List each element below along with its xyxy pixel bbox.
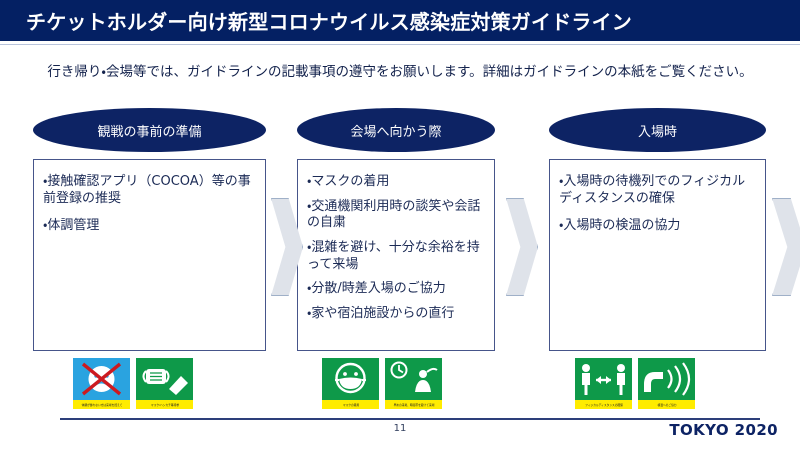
subtitle-text: 行き帰り・会場等では、ガイドラインの記載事項の遵守をお願いします。詳細はガイドラ… [0, 60, 800, 80]
column-panel-1: ・接触確認アプリ（COCOA）等の事前登録の推奨 ・体調管理 [33, 159, 266, 351]
mask-and-handkerchief-icon [136, 358, 193, 400]
physical-distance-icon [575, 358, 632, 400]
column-heading-label-1: 観戦の事前の準備 [97, 121, 201, 140]
pictogram-caption: 早めの来場、時間帯を避けて来場 [385, 400, 442, 409]
pictogram-caption: 検温へのご協力 [638, 400, 695, 409]
pictogram-caption: フィジカルディスタンスの確保 [575, 400, 632, 409]
bullet-item: ・入場時の検温の協力 [559, 218, 756, 235]
slide: チケットホルダー向け新型コロナウイルス感染症対策ガイドライン 行き帰り・会場等で… [0, 0, 800, 450]
bullet-item: ・家や宿泊施設からの直行 [307, 306, 485, 323]
column-entry: 入場時 ・入場時の待機列でのフィジカルディスタンスの確保 ・入場時の検温の協力 [549, 108, 766, 351]
bullet-item: ・接触確認アプリ（COCOA）等の事前登録の推奨 [43, 174, 256, 207]
pictogram-caption-text: フィジカルディスタンスの確保 [585, 403, 623, 407]
chevron-arrow-icon [772, 198, 800, 296]
column-heading-ellipse-3: 入場時 [549, 108, 766, 152]
pictogram: フィジカルディスタンスの確保 [575, 358, 632, 409]
chevron-arrow-icon [506, 198, 538, 296]
bullet-item: ・入場時の待機列でのフィジカルディスタンスの確保 [559, 174, 756, 207]
pictogram: マスク・ハンカチ等持参 [136, 358, 193, 409]
column-heading-label-3: 入場時 [638, 121, 677, 140]
pictogram-caption: 体調が優れない方は来場を控えて [73, 400, 130, 409]
column-travel: 会場へ向かう際 ・マスクの着用 ・交通機関利用時の談笑や会話の自粛 ・混雑を避け… [297, 108, 495, 351]
title-bar: チケットホルダー向け新型コロナウイルス感染症対策ガイドライン [0, 0, 800, 41]
pictogram-caption-text: 体調が優れない方は来場を控えて [81, 403, 122, 407]
column-panel-3: ・入場時の待機列でのフィジカルディスタンスの確保 ・入場時の検温の協力 [549, 159, 766, 351]
column-preparation: 観戦の事前の準備 ・接触確認アプリ（COCOA）等の事前登録の推奨 ・体調管理 [33, 108, 266, 351]
tokyo-2020-logo: TOKYO 2020 [669, 421, 778, 439]
pictogram-group-2: マスクの着用 早めの来場、時間帯を避けて来場 [322, 358, 442, 409]
pictogram-caption: マスクの着用 [322, 400, 379, 409]
bullet-item: ・分散/時差入場のご協力 [307, 281, 485, 298]
pictogram: 早めの来場、時間帯を避けて来場 [385, 358, 442, 409]
column-heading-ellipse-1: 観戦の事前の準備 [33, 108, 266, 152]
pictogram: マスクの着用 [322, 358, 379, 409]
bullet-item: ・マスクの着用 [307, 174, 485, 191]
column-panel-2: ・マスクの着用 ・交通機関利用時の談笑や会話の自粛 ・混雑を避け、十分な余裕を持… [297, 159, 495, 351]
column-heading-label-2: 会場へ向かう際 [350, 121, 441, 140]
no-entry-if-unwell-icon [73, 358, 130, 400]
pictogram-caption-text: 検温へのご協力 [657, 403, 676, 407]
pictogram-caption-text: マスクの着用 [342, 403, 358, 407]
title-rule [0, 44, 800, 45]
pictogram-caption-text: 早めの来場、時間帯を避けて来場 [393, 403, 434, 407]
temperature-check-icon [638, 358, 695, 400]
pictogram-group-3: フィジカルディスタンスの確保 検温へのご協力 [575, 358, 695, 409]
bullet-item: ・交通機関利用時の談笑や会話の自粛 [307, 199, 485, 232]
pictogram-caption-text: マスク・ハンカチ等持参 [150, 403, 178, 407]
pictogram-caption: マスク・ハンカチ等持参 [136, 400, 193, 409]
bullet-item: ・混雑を避け、十分な余裕を持って来場 [307, 240, 485, 273]
bullet-item: ・体調管理 [43, 218, 256, 235]
pictogram: 体調が優れない方は来場を控えて [73, 358, 130, 409]
footer-divider [60, 418, 760, 420]
pictogram-group-1: 体調が優れない方は来場を控えて マスク・ハンカチ等持参 [73, 358, 193, 409]
avoid-crowds-time-icon [385, 358, 442, 400]
page-title: チケットホルダー向け新型コロナウイルス感染症対策ガイドライン [26, 0, 632, 41]
pictogram: 検温へのご協力 [638, 358, 695, 409]
wear-mask-icon [322, 358, 379, 400]
column-heading-ellipse-2: 会場へ向かう際 [297, 108, 495, 152]
